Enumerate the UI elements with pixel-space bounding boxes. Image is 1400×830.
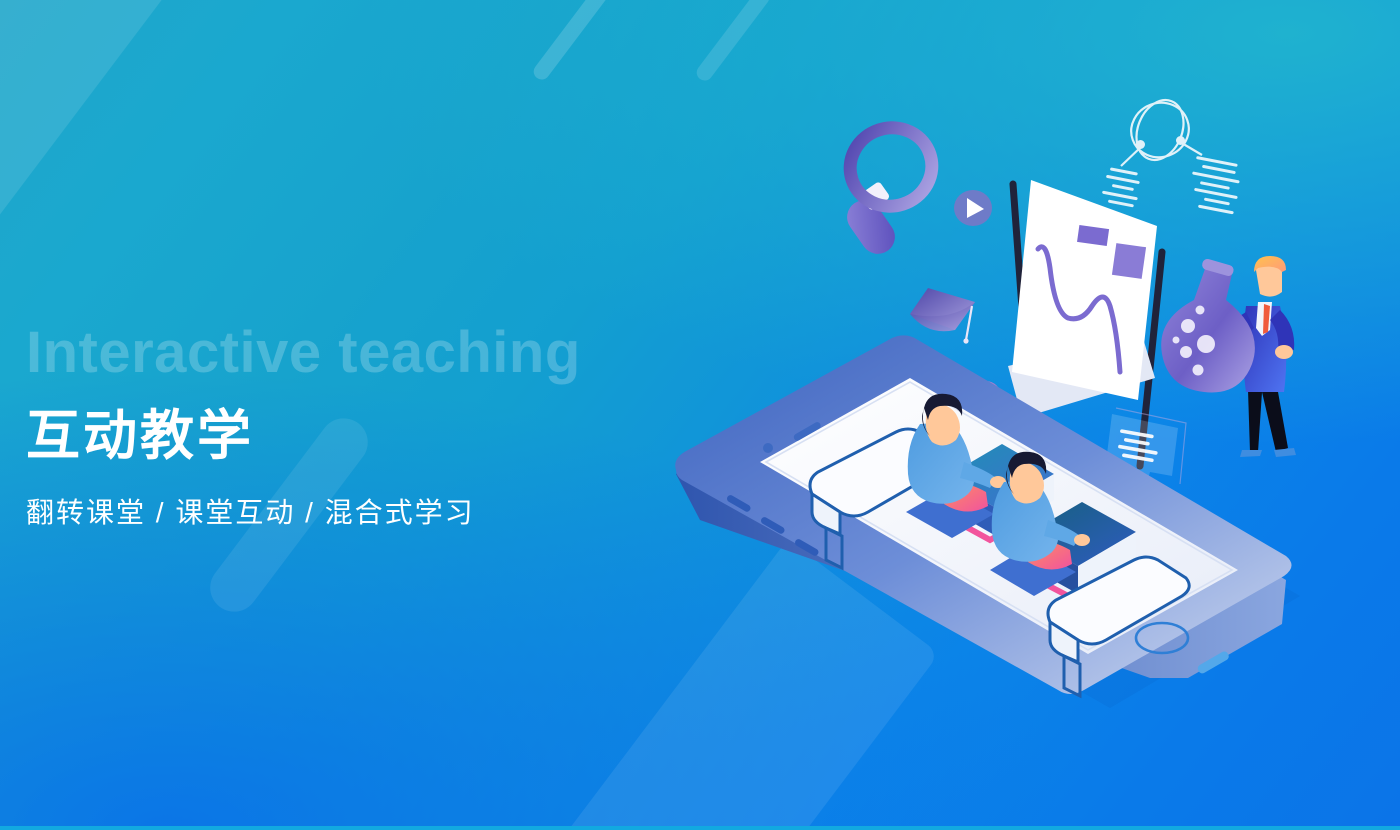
headline-english: Interactive teaching bbox=[26, 324, 786, 382]
subtitle-line: 翻转课堂 / 课堂互动 / 混合式学习 bbox=[26, 491, 786, 531]
atom-orbit-icon bbox=[1121, 93, 1202, 167]
graduation-cap-icon bbox=[910, 288, 975, 344]
note-lines-right bbox=[1192, 156, 1240, 214]
hero-text-block: Interactive teaching 互动教学 翻转课堂 / 课堂互动 / … bbox=[26, 324, 786, 531]
hero-banner: Interactive teaching 互动教学 翻转课堂 / 课堂互动 / … bbox=[0, 0, 1400, 830]
flask-icon bbox=[1161, 258, 1255, 393]
note-lines-left bbox=[1102, 167, 1140, 207]
bottom-accent-strip bbox=[0, 826, 1400, 830]
headline-chinese: 互动教学 bbox=[26, 408, 786, 465]
magnifier-icon bbox=[840, 117, 942, 260]
